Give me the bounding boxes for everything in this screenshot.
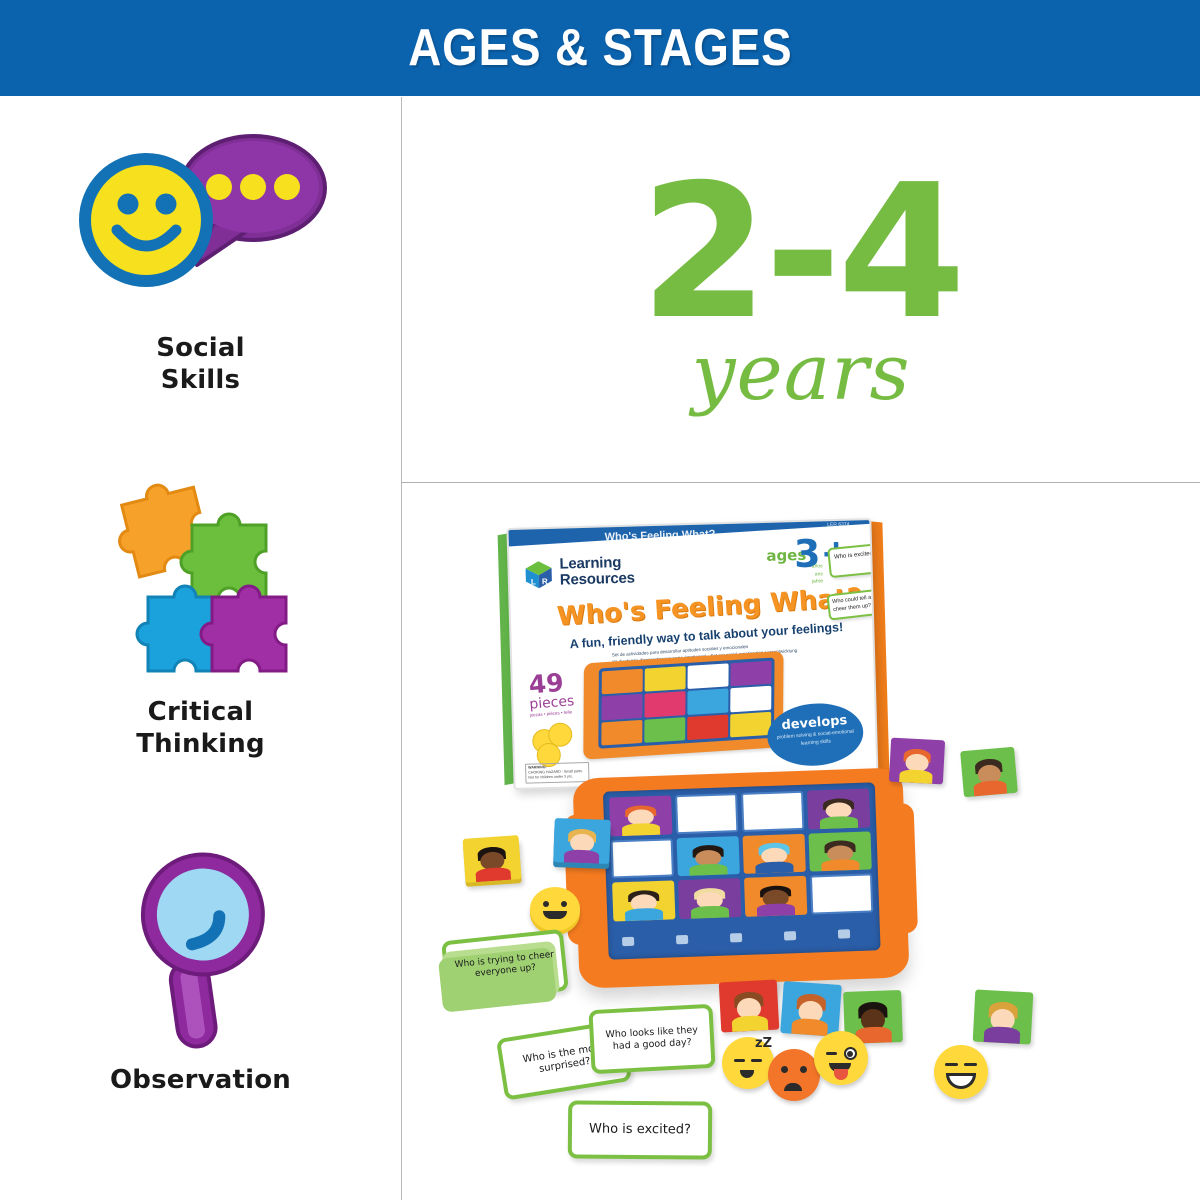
board-tile	[744, 876, 807, 917]
microphone-icon	[622, 936, 634, 945]
skill-item-social-skills: Social Skills	[0, 115, 401, 396]
skill-label-critical-thinking: Critical Thinking	[0, 697, 401, 760]
game-board	[572, 767, 909, 988]
skills-column: Social Skills	[0, 97, 401, 1200]
emoji-token-laughing	[934, 1045, 988, 1099]
product-package-box: Who's Feeling What? LER 6374 L R Learnin…	[506, 518, 878, 790]
skill-item-critical-thinking: Critical Thinking	[0, 469, 401, 760]
board-blue-screen	[603, 782, 881, 959]
emoji-token-sleeping: zZ	[722, 1037, 774, 1089]
box-art-tile	[730, 661, 771, 687]
board-tile-empty	[810, 874, 873, 915]
board-tile	[808, 831, 871, 872]
box-art-tile	[645, 666, 686, 692]
box-art-tile	[601, 720, 642, 746]
skill-label-line1: Social	[0, 333, 401, 365]
age-unit-label: years	[691, 334, 910, 412]
share-icon	[838, 929, 850, 938]
character-card	[889, 738, 945, 785]
board-tile-grid	[609, 788, 873, 921]
learning-resources-cube-icon: L R	[523, 559, 554, 590]
box-sku-label: LER 6374	[827, 522, 849, 529]
character-card	[719, 980, 780, 1033]
box-art-tile	[644, 717, 685, 743]
brand-line2: Resources	[560, 570, 635, 588]
header-banner: AGES & STAGES	[0, 0, 1200, 96]
skill-label-observation: Observation	[0, 1065, 401, 1097]
board-tile	[609, 795, 672, 836]
smiley-speech-bubble-icon	[71, 115, 331, 325]
question-card-stack-cheer: Who is trying to cheer everyone up?	[441, 929, 569, 1003]
puzzle-pieces-icon	[86, 469, 316, 689]
box-art-game-board	[583, 651, 783, 760]
svg-text:R: R	[542, 577, 548, 586]
skill-label-social-skills: Social Skills	[0, 333, 401, 396]
skill-label-line2: Thinking	[0, 729, 401, 761]
character-card-stack	[463, 835, 522, 883]
emoji-token-angry	[768, 1049, 820, 1101]
magnifying-glass-icon	[91, 827, 311, 1057]
box-art-tile-empty	[730, 686, 771, 712]
skill-item-observation: Observation	[0, 827, 401, 1097]
box-art-tile	[687, 689, 728, 715]
board-tile-empty	[675, 793, 738, 834]
product-photo-panel: Who's Feeling What? LER 6374 L R Learnin…	[402, 483, 1200, 1200]
character-card-stack	[553, 818, 611, 864]
box-top-strip-title: Who's Feeling What?	[605, 528, 716, 543]
skill-label-line2: Skills	[0, 365, 401, 397]
character-card	[780, 981, 841, 1037]
page-title: AGES & STAGES	[408, 18, 792, 78]
board-tile-empty	[611, 838, 674, 879]
character-card	[960, 747, 1018, 798]
box-art-tile-empty	[688, 663, 729, 689]
age-range-value: 2-4	[640, 167, 962, 337]
board-toolbar	[614, 919, 875, 954]
video-camera-icon	[676, 934, 688, 943]
box-art-screen	[598, 657, 774, 748]
participants-icon	[730, 933, 742, 942]
ages-tiny-1: años	[811, 563, 822, 571]
svg-text:L: L	[531, 577, 536, 586]
board-tile	[678, 878, 741, 919]
skill-label-line1: Critical	[0, 697, 401, 729]
emoji-token-wink-tongue	[814, 1031, 868, 1085]
character-card	[973, 990, 1034, 1045]
board-tile	[743, 833, 806, 874]
box-ages-translations: años ans jahre	[811, 563, 823, 586]
chat-icon	[784, 931, 796, 940]
brand-name: Learning Resources	[559, 555, 635, 589]
skill-label-line1: Observation	[0, 1065, 401, 1097]
box-art-tile	[602, 694, 643, 720]
board-tile	[677, 836, 740, 877]
board-tile	[612, 881, 675, 922]
question-card-excited: Who is excited?	[568, 1100, 713, 1159]
board-tile-empty	[741, 791, 804, 832]
board-tile	[807, 788, 870, 829]
age-range-panel: 2-4 years	[402, 97, 1200, 482]
ages-tiny-3: jahre	[812, 578, 823, 586]
box-front-face: Who's Feeling What? LER 6374 L R Learnin…	[506, 518, 878, 790]
emoji-token-smiley-stack	[530, 887, 580, 931]
box-art-tile	[644, 691, 685, 717]
box-art-tile	[730, 711, 771, 737]
box-art-tile	[687, 714, 728, 740]
question-card-good-day: Who looks like they had a good day?	[588, 1004, 715, 1074]
box-art-tile	[602, 669, 643, 695]
infographic-page: AGES & STAGES	[0, 0, 1200, 1200]
